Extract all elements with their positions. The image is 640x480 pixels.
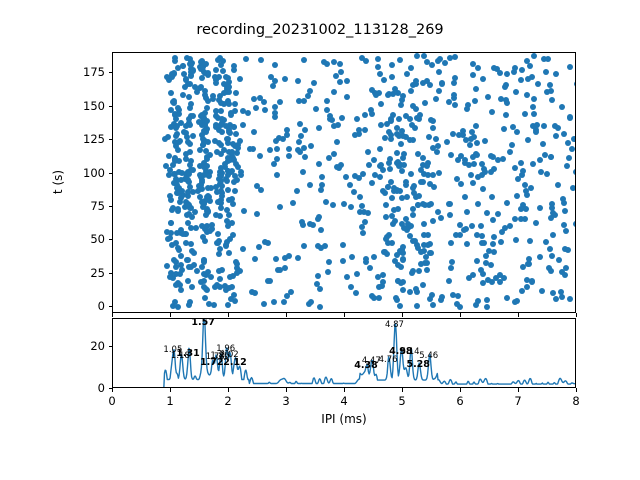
scatter-point [418,261,424,267]
scatter-point [512,65,518,71]
scatter-point [448,240,454,246]
scatter-point [324,107,330,113]
scatter-point [254,211,260,217]
y-tick-label: 0 [60,381,105,395]
scatter-point [457,222,463,228]
scatter-point [544,171,550,177]
y-tick-label: 20 [60,339,105,353]
scatter-point [420,282,426,288]
scatter-point [220,68,226,74]
scatter-point [360,230,366,236]
scatter-point [188,241,194,247]
x-tick-label: 8 [572,394,579,408]
scatter-point [313,106,319,112]
scatter-point [207,228,213,234]
scatter-point [480,76,486,82]
scatter-point [504,200,510,206]
scatter-point [337,61,343,67]
scatter-point [464,241,470,247]
raster-axes [112,52,576,313]
scatter-point [362,112,368,118]
scatter-point [549,201,555,207]
scatter-point [308,143,314,149]
scatter-point [377,146,383,152]
scatter-point [537,205,543,211]
scatter-point [418,179,424,185]
x-tick-mark [576,313,577,317]
y-tick-mark [109,239,113,240]
scatter-point [187,105,193,111]
scatter-point [408,65,414,71]
scatter-point [448,152,454,158]
scatter-point [343,174,349,180]
scatter-point [430,172,436,178]
scatter-point [399,195,405,201]
y-tick-mark [109,206,113,207]
scatter-point [183,77,189,83]
x-tick-mark [344,388,345,392]
scatter-point [481,240,487,246]
scatter-point [408,88,414,94]
scatter-point [331,123,337,129]
scatter-point [377,163,383,169]
scatter-point [233,90,239,96]
y-tick-label: 125 [60,132,105,146]
x-tick-label: 4 [340,394,347,408]
scatter-point [464,209,470,215]
scatter-point [490,217,496,223]
scatter-point [204,156,210,162]
scatter-point [168,220,174,226]
scatter-point [479,172,485,178]
scatter-point [174,182,180,188]
scatter-point [520,168,526,174]
scatter-point [566,155,572,161]
scatter-point [421,221,427,227]
scatter-point [178,262,184,268]
scatter-point [296,139,302,145]
scatter-point [564,163,570,169]
scatter-point [357,194,363,200]
scatter-point [225,187,231,193]
peak-annotation: 5.28 [406,360,429,370]
scatter-point [470,154,476,160]
scatter-point [548,268,554,274]
scatter-point [213,122,219,128]
scatter-point [218,108,224,114]
scatter-point [454,301,460,307]
scatter-point [179,188,185,194]
scatter-point [188,73,194,79]
matplotlib-figure: recording_20231002_113128_269 0255075100… [0,0,640,480]
scatter-point [344,78,350,84]
scatter-point [524,58,530,64]
scatter-point [462,194,468,200]
scatter-point [484,297,490,303]
scatter-point [282,265,288,271]
scatter-point [504,71,510,77]
scatter-point [167,235,173,241]
scatter-point [416,193,422,199]
scatter-point [567,296,573,302]
scatter-point [430,302,436,308]
scatter-point [488,262,494,268]
scatter-point [452,75,458,81]
scatter-point [519,67,525,73]
scatter-point [507,149,513,155]
scatter-point [206,173,212,179]
scatter-point [468,172,474,178]
scatter-point [428,250,434,256]
y-tick-mark [109,72,113,73]
x-tick-mark [286,388,287,392]
scatter-point [439,81,445,87]
scatter-point [530,161,536,167]
scatter-point [414,115,420,121]
scatter-point [561,131,567,137]
scatter-point [537,157,543,163]
scatter-point [489,109,495,115]
scatter-point [353,290,359,296]
scatter-point [203,286,209,292]
scatter-point [187,149,193,155]
scatter-point [337,79,343,85]
scatter-point [373,92,379,98]
scatter-point [233,131,239,137]
scatter-point [553,71,559,77]
x-tick-mark [112,313,113,317]
scatter-point [348,284,354,290]
y-tick-mark [109,306,113,307]
scatter-point [190,133,196,139]
scatter-point [261,99,267,105]
scatter-point [542,152,548,158]
scatter-point [369,111,375,117]
scatter-point [480,271,486,277]
scatter-point [338,69,344,75]
scatter-point [490,241,496,247]
scatter-point [553,133,559,139]
scatter-point [272,110,278,116]
scatter-point [270,83,276,89]
scatter-point [277,204,283,210]
scatter-point [533,127,539,133]
scatter-point [168,197,174,203]
scatter-point [217,276,223,282]
scatter-point [189,284,195,290]
scatter-point [316,161,322,167]
scatter-point [466,162,472,168]
scatter-point [207,198,213,204]
scatter-point [237,76,243,82]
scatter-point [550,232,556,238]
scatter-point [375,56,381,62]
scatter-point [497,279,503,285]
x-tick-mark [576,388,577,392]
x-tick-label: 3 [282,394,289,408]
scatter-point [395,206,401,212]
scatter-point [295,255,301,261]
scatter-point [367,265,373,271]
scatter-point [201,259,207,265]
scatter-point [549,253,555,259]
scatter-point [550,290,556,296]
scatter-point [518,77,524,83]
scatter-point [232,188,238,194]
scatter-point [427,82,433,88]
scatter-point [362,127,368,133]
scatter-point [436,88,442,94]
scatter-point [340,242,346,248]
scatter-point [217,55,223,61]
y-tick-label: 100 [60,166,105,180]
scatter-point [191,250,197,256]
scatter-point [470,272,476,278]
scatter-point [226,250,232,256]
scatter-point [569,146,575,152]
scatter-point [541,123,547,129]
scatter-point [232,101,238,107]
scatter-point [316,125,322,131]
y-tick-label: 50 [60,232,105,246]
scatter-point [548,88,554,94]
scatter-point [192,84,198,90]
scatter-point [384,251,390,257]
scatter-point [231,63,237,69]
scatter-point [174,131,180,137]
scatter-point [381,77,387,83]
scatter-point [318,187,324,193]
scatter-point [267,147,273,153]
scatter-point [185,189,191,195]
scatter-point [317,304,323,310]
scatter-point [530,104,536,110]
scatter-point [382,135,388,141]
peak-annotation: 4.87 [385,321,404,330]
scatter-point [474,140,480,146]
scatter-point [394,150,400,156]
peak-annotation: 2.12 [223,358,246,368]
scatter-point [545,56,551,62]
scatter-point [386,129,392,135]
scatter-point [331,59,337,65]
scatter-point [475,65,481,71]
scatter-point [407,137,413,143]
scatter-point [271,161,277,167]
x-tick-mark [460,388,461,392]
scatter-point [226,84,232,90]
scatter-point [556,257,562,263]
scatter-point [277,99,283,105]
scatter-point [394,252,400,258]
scatter-point [290,200,296,206]
y-tick-mark [109,139,113,140]
scatter-point [399,128,405,134]
scatter-point [339,115,345,121]
scatter-point [379,283,385,289]
scatter-point [504,100,510,106]
scatter-point [344,94,350,100]
scatter-point [216,238,222,244]
scatter-point [543,239,549,245]
scatter-point [514,193,520,199]
scatter-point [319,174,325,180]
scatter-point [203,95,209,101]
scatter-point [240,122,246,128]
scatter-point [524,192,530,198]
x-tick-label: 5 [398,394,405,408]
scatter-point [326,155,332,161]
y-tick-label: 25 [60,266,105,280]
scatter-point [372,172,378,178]
scatter-point [543,69,549,75]
scatter-point [184,212,190,218]
scatter-point [452,102,458,108]
scatter-point [531,111,537,117]
scatter-point [184,176,190,182]
scatter-point [205,209,211,215]
y-tick-mark [109,346,113,347]
scatter-point [552,123,558,129]
scatter-point [184,55,190,61]
scatter-point [305,93,311,99]
scatter-point [204,163,210,169]
scatter-point [186,94,192,100]
scatter-point [213,212,219,218]
scatter-point [389,62,395,68]
scatter-point [430,118,436,124]
scatter-point [502,225,508,231]
scatter-point [324,98,330,104]
scatter-point [234,150,240,156]
scatter-point [231,157,237,163]
scatter-point [561,200,567,206]
scatter-point [307,182,313,188]
scatter-point [567,64,573,70]
scatter-point [436,69,442,75]
x-tick-label: 2 [224,394,231,408]
scatter-point [180,63,186,69]
scatter-point [375,64,381,70]
scatter-point [387,156,393,162]
x-tick-mark [170,313,171,317]
scatter-point [225,172,231,178]
x-tick-label: 6 [456,394,463,408]
scatter-point [448,265,454,271]
scatter-point [187,141,193,147]
scatter-point [555,182,561,188]
scatter-point [475,201,481,207]
y-tick-mark [109,273,113,274]
scatter-point [473,123,479,129]
scatter-point [217,246,223,252]
scatter-point [218,100,224,106]
scatter-point [433,136,439,142]
scatter-point [321,59,327,65]
scatter-point [224,136,230,142]
scatter-point [484,210,490,216]
scatter-point [213,113,219,119]
scatter-point [531,96,537,102]
scatter-point [261,301,267,307]
scatter-point [446,278,452,284]
scatter-point [226,285,232,291]
scatter-point [488,169,494,175]
scatter-point [473,86,479,92]
scatter-point [571,136,576,142]
scatter-point [386,91,392,97]
scatter-point [297,121,303,127]
scatter-point [400,244,406,250]
scatter-point [273,256,279,262]
scatter-point [215,199,221,205]
scatter-point [435,143,441,149]
scatter-point [223,74,229,80]
scatter-point [416,268,422,274]
scatter-point [216,268,222,274]
scatter-point [359,224,365,230]
scatter-point [539,288,545,294]
scatter-point [537,254,543,260]
scatter-point [491,65,497,71]
scatter-point [331,151,337,157]
scatter-point [403,179,409,185]
scatter-point [262,107,268,113]
scatter-point [191,262,197,268]
scatter-point [359,203,365,209]
scatter-point [251,129,257,135]
scatter-point [202,88,208,94]
x-tick-mark [170,388,171,392]
scatter-point [442,60,448,66]
scatter-point [422,100,428,106]
scatter-point [307,88,313,94]
figure-title: recording_20231002_113128_269 [0,22,640,38]
scatter-point [284,293,290,299]
scatter-point [301,57,307,63]
scatter-point [226,212,232,218]
scatter-point [253,105,259,111]
scatter-point [199,112,205,118]
scatter-point [524,284,530,290]
scatter-point [300,222,306,228]
scatter-point [201,201,207,207]
scatter-point [525,76,531,82]
scatter-point [274,172,280,178]
scatter-point [489,194,495,200]
scatter-point [219,116,225,122]
scatter-point [444,139,450,145]
scatter-point [573,169,576,175]
scatter-point [429,62,435,68]
scatter-point [180,92,186,98]
scatter-point [272,62,278,68]
scatter-point [325,269,331,275]
scatter-point [561,222,567,228]
scatter-point [538,169,544,175]
scatter-point [397,57,403,63]
scatter-point [559,104,565,110]
scatter-point [574,81,577,87]
scatter-point [257,153,263,159]
x-tick-label: 0 [108,394,115,408]
scatter-point [531,53,537,59]
scatter-point [472,98,478,104]
x-tick-mark [228,313,229,317]
scatter-point [397,303,403,309]
scatter-point [500,156,506,162]
scatter-point [458,181,464,187]
